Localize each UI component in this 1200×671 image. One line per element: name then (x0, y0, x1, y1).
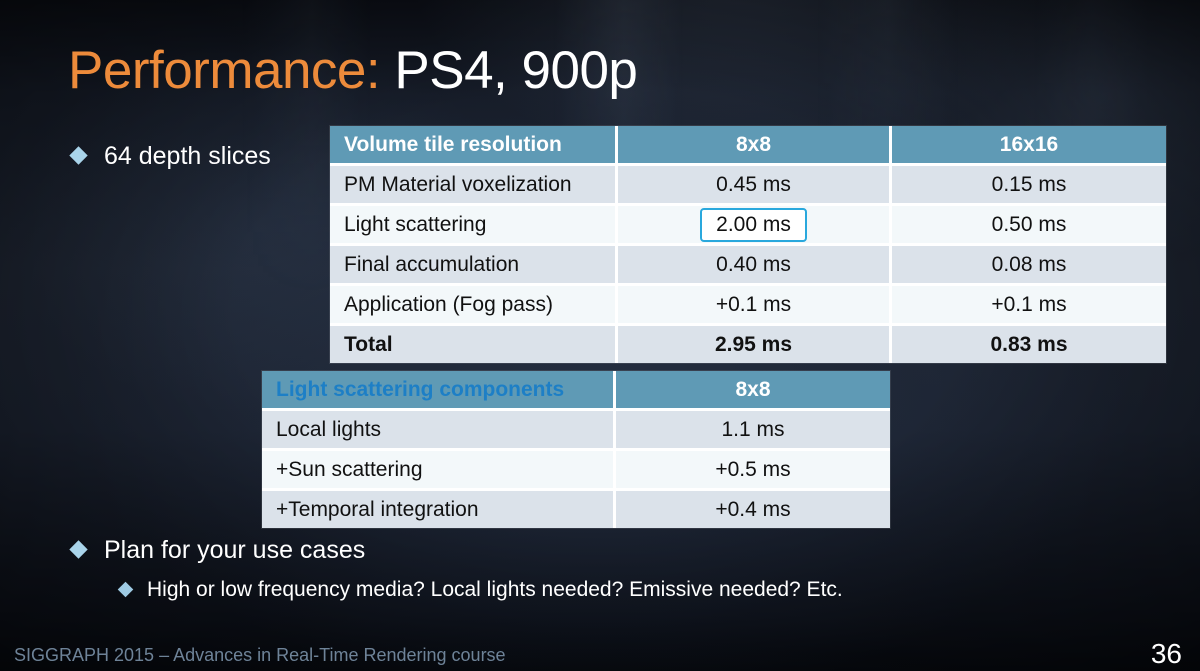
cell-pm-material-voxelization-8x8: 0.45 ms (618, 163, 892, 203)
header-light-scattering-components: Light scattering components (262, 371, 616, 408)
row-label-light-scattering: Light scattering (330, 203, 618, 243)
table-row: PM Material voxelization 0.45 ms 0.15 ms (330, 163, 1166, 203)
diamond-bullet-icon (69, 146, 87, 164)
header-volume-tile-resolution: Volume tile resolution (330, 126, 618, 163)
row-label-sun-scattering: +Sun scattering (262, 448, 616, 488)
presentation-slide: Performance: PS4, 900p 64 depth slices V… (0, 0, 1200, 671)
light-scattering-components-table: Light scattering components 8x8 Local li… (262, 371, 890, 528)
cell-local-lights-8x8: 1.1 ms (616, 408, 890, 448)
header-8x8: 8x8 (618, 126, 892, 163)
cell-application-fog-pass-8x8: +0.1 ms (618, 283, 892, 323)
cell-total-8x8: 2.95 ms (618, 323, 892, 363)
highlight-box: 2.00 ms (700, 208, 807, 242)
table-row: Light scattering 2.00 ms 0.50 ms (330, 203, 1166, 243)
cell-light-scattering-16x16: 0.50 ms (892, 203, 1166, 243)
slide-title-main: PS4, 900p (394, 41, 637, 100)
table-row: +Sun scattering +0.5 ms (262, 448, 890, 488)
header-16x16: 16x16 (892, 126, 1166, 163)
page-number: 36 (1151, 638, 1182, 670)
slide-title: Performance: PS4, 900p (68, 40, 637, 102)
diamond-bullet-icon (69, 540, 87, 558)
bullet-plan-label: Plan for your use cases (104, 536, 365, 564)
row-label-total: Total (330, 323, 618, 363)
cell-pm-material-voxelization-16x16: 0.15 ms (892, 163, 1166, 203)
cell-sun-scattering-8x8: +0.5 ms (616, 448, 890, 488)
row-label-temporal-integration: +Temporal integration (262, 488, 616, 528)
cell-application-fog-pass-16x16: +0.1 ms (892, 283, 1166, 323)
table-row: Local lights 1.1 ms (262, 408, 890, 448)
bullet-media-questions: High or low frequency media? Local light… (120, 578, 843, 602)
performance-table: Volume tile resolution 8x8 16x16 PM Mate… (330, 126, 1166, 363)
bullet-plan-for-use-cases: Plan for your use cases (72, 536, 365, 564)
table-header-row: Light scattering components 8x8 (262, 371, 890, 408)
cell-final-accumulation-8x8: 0.40 ms (618, 243, 892, 283)
table-row: Final accumulation 0.40 ms 0.08 ms (330, 243, 1166, 283)
cell-light-scattering-8x8-highlighted: 2.00 ms (618, 203, 892, 243)
row-label-pm-material-voxelization: PM Material voxelization (330, 163, 618, 203)
table-row: +Temporal integration +0.4 ms (262, 488, 890, 528)
table-row: Application (Fog pass) +0.1 ms +0.1 ms (330, 283, 1166, 323)
header-components-8x8: 8x8 (616, 371, 890, 408)
table-header-row: Volume tile resolution 8x8 16x16 (330, 126, 1166, 163)
row-label-final-accumulation: Final accumulation (330, 243, 618, 283)
slide-title-accent: Performance: (68, 41, 380, 100)
bullet-media-label: High or low frequency media? Local light… (147, 578, 843, 602)
row-label-local-lights: Local lights (262, 408, 616, 448)
cell-temporal-integration-8x8: +0.4 ms (616, 488, 890, 528)
cell-total-16x16: 0.83 ms (892, 323, 1166, 363)
row-label-application-fog-pass: Application (Fog pass) (330, 283, 618, 323)
cell-final-accumulation-16x16: 0.08 ms (892, 243, 1166, 283)
table-row: Total 2.95 ms 0.83 ms (330, 323, 1166, 363)
bullet-depth-slices: 64 depth slices (72, 142, 271, 170)
diamond-bullet-icon (118, 582, 134, 598)
bullet-depth-slices-label: 64 depth slices (104, 142, 271, 170)
footer-course-text: SIGGRAPH 2015 – Advances in Real-Time Re… (14, 645, 506, 666)
